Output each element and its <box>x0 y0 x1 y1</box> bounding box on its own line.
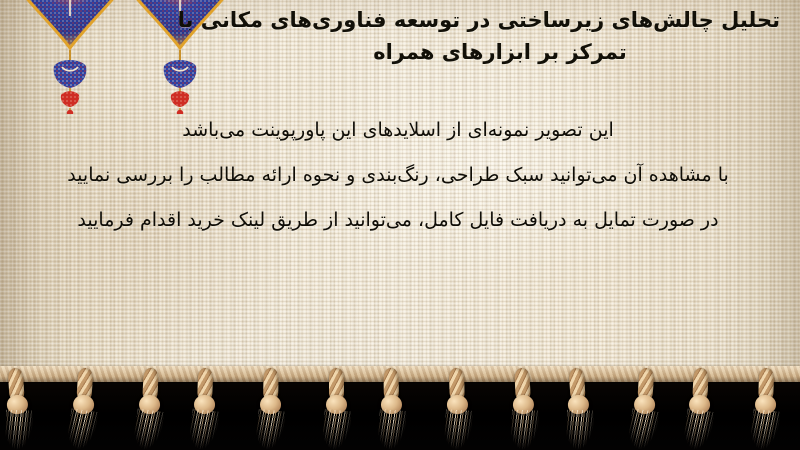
slide-title-line-2: تمرکز بر ابزارهای همراه <box>220 36 780 68</box>
fringe-tassel <box>64 361 103 450</box>
fringe-strands <box>188 409 220 450</box>
fringe-tassel <box>505 361 543 450</box>
fringe-strands <box>682 408 714 450</box>
fringe-strands <box>444 409 473 450</box>
slide-body: این تصویر نمونه‌ای از اسلایدهای این پاور… <box>18 108 778 243</box>
slide-body-line-1: این تصویر نمونه‌ای از اسلایدهای این پاور… <box>18 108 778 153</box>
fringe-tassel <box>131 361 169 450</box>
fringe-tassel <box>748 361 785 450</box>
fringe-strands <box>566 410 594 450</box>
fringe-strands <box>255 409 286 450</box>
slide-title: تحلیل چالش‌های زیرساختی در توسعه فناوری‌… <box>220 4 780 68</box>
fringe-strands <box>321 409 351 450</box>
fringe-tassel <box>374 362 409 450</box>
fringe-tassel <box>253 362 288 450</box>
fringe-strands <box>749 409 781 450</box>
fringe-strands <box>377 409 407 450</box>
fringe-strands <box>66 408 99 450</box>
slide-body-line-3: در صورت تمایل به دریافت فایل کامل، می‌تو… <box>18 198 778 243</box>
fringe-strands <box>627 408 660 450</box>
presentation-slide: تحلیل چالش‌های زیرساختی در توسعه فناوری‌… <box>0 0 800 450</box>
fringe-tassel <box>681 361 719 450</box>
fringe-tassel <box>559 361 598 450</box>
fringe-tassel <box>320 362 354 450</box>
fringe-strands <box>510 409 539 450</box>
slide-body-line-2: با مشاهده آن می‌توانید سبک طراحی، رنگ‌بن… <box>18 153 778 198</box>
slide-title-line-1: تحلیل چالش‌های زیرساختی در توسعه فناوری‌… <box>220 4 780 36</box>
fringe-tassel <box>187 361 224 450</box>
fringe-tassel <box>440 361 477 450</box>
fringe-strands <box>5 410 33 450</box>
fringe-tassel <box>625 361 664 450</box>
fringe-tassel <box>0 361 38 450</box>
carpet-fringe <box>0 362 800 450</box>
fringe-strands <box>132 408 164 450</box>
